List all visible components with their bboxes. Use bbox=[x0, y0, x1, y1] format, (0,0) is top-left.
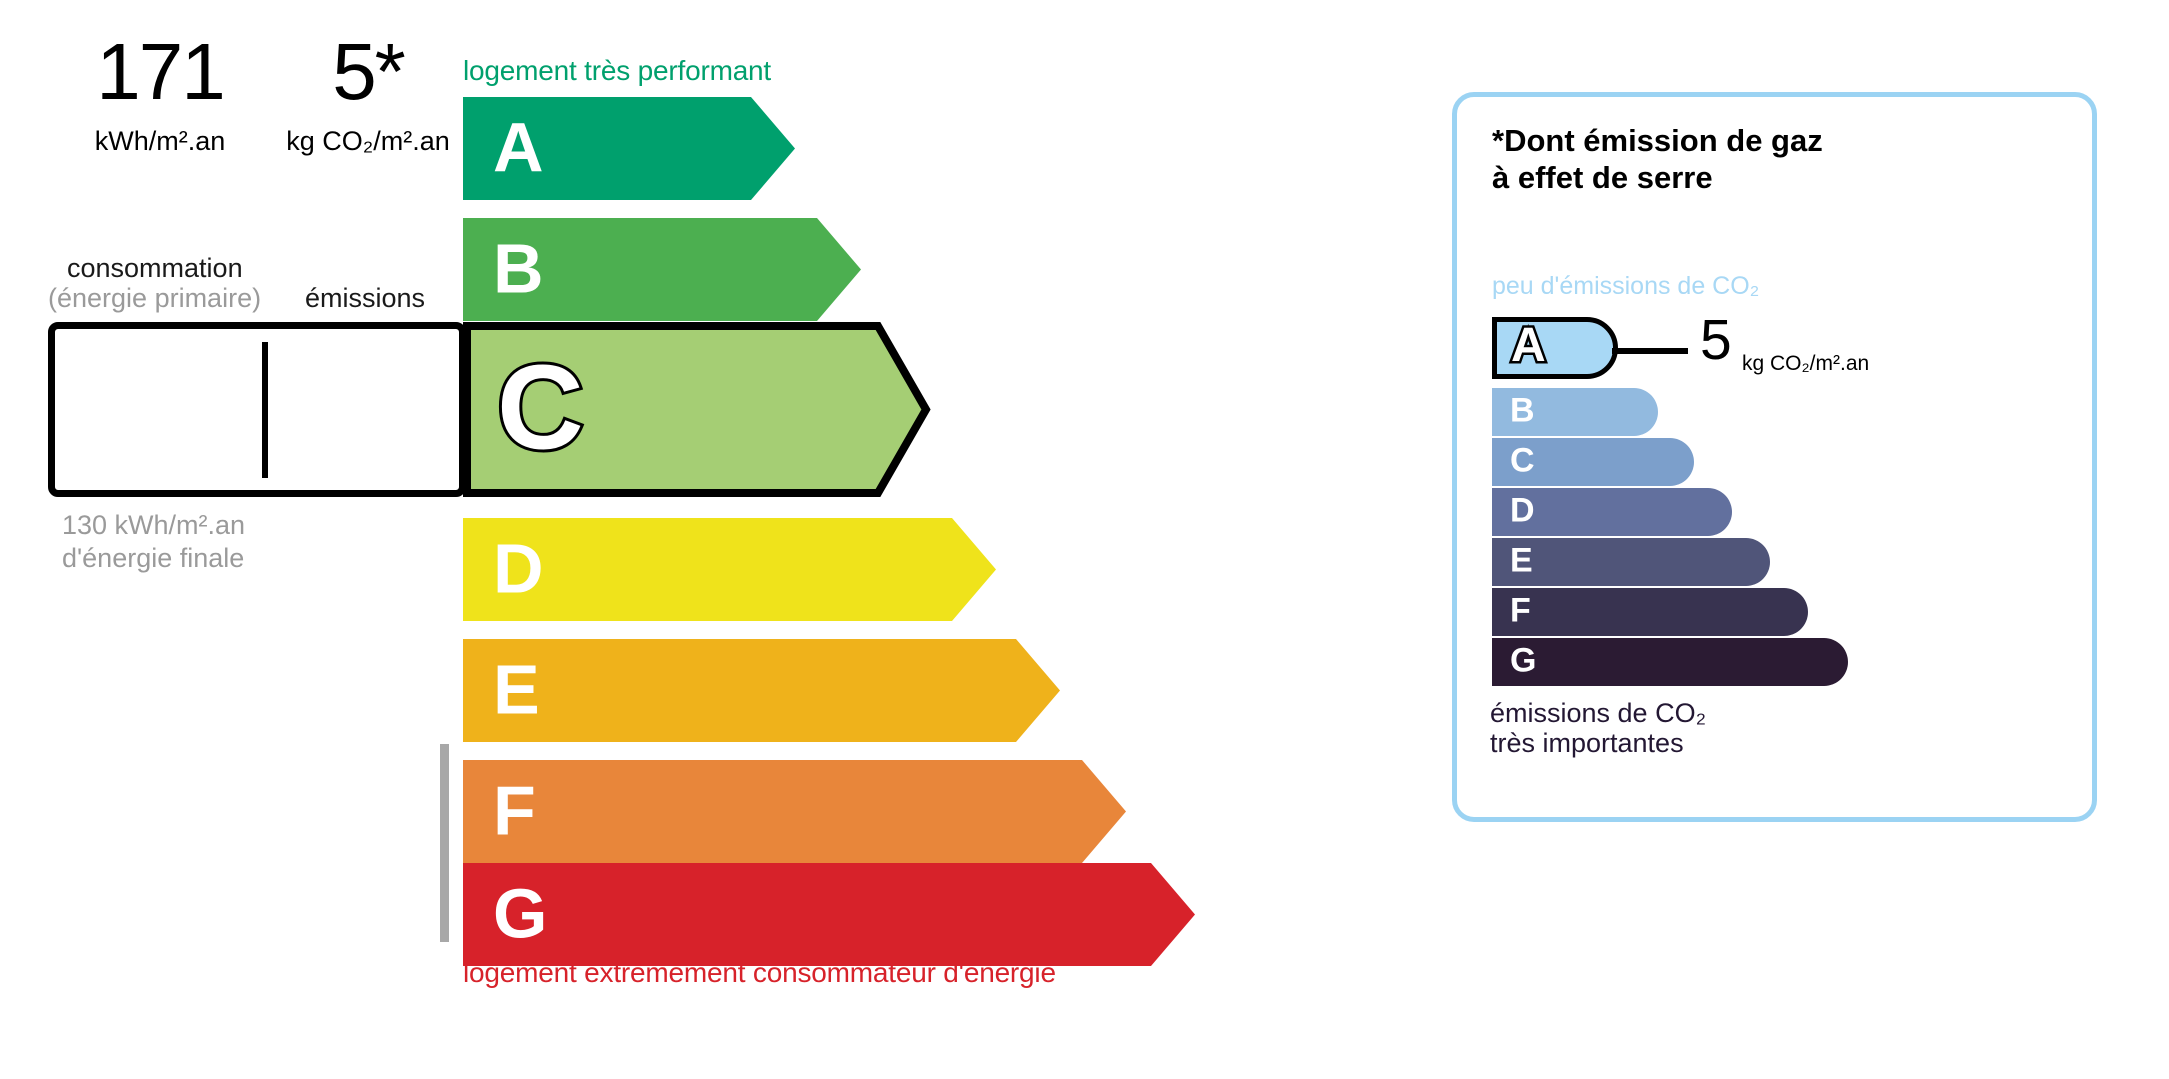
energy-class-row-a: A bbox=[463, 97, 795, 200]
co2-class-letter-c: C bbox=[1510, 444, 1535, 478]
consumption-number: 171 bbox=[55, 32, 265, 112]
label-emissions: émissions bbox=[305, 283, 425, 314]
arrow-shape-e bbox=[463, 639, 1070, 752]
co2-class-letter-g: G bbox=[1510, 644, 1536, 678]
emission-unit: kg CO₂/m².an bbox=[268, 126, 468, 157]
energy-class-letter-f: F bbox=[493, 775, 536, 845]
energy-class-row-b: B bbox=[463, 218, 861, 321]
co2-class-letter-b: B bbox=[1510, 394, 1535, 428]
arrow-shape-d bbox=[463, 518, 1006, 631]
co2-class-bar-b: B bbox=[1492, 388, 1658, 436]
co2-bottom-caption-line2: très importantes bbox=[1490, 728, 1684, 759]
energy-class-row-e: E bbox=[463, 639, 1060, 742]
footnote-final-energy-value: 130 kWh/m².an bbox=[62, 510, 245, 541]
co2-value-number: 5 bbox=[1700, 312, 1732, 369]
scale-top-caption: logement très performant bbox=[463, 55, 771, 87]
value-box bbox=[48, 322, 466, 497]
energy-class-row-d: D bbox=[463, 518, 996, 621]
co2-value-unit: kg CO₂/m².an bbox=[1742, 352, 1869, 376]
co2-class-bar-c: C bbox=[1492, 438, 1694, 486]
scale-bottom-caption: logement extrêmement consommateur d'éner… bbox=[463, 957, 1056, 989]
co2-class-letter-a: A bbox=[1511, 322, 1546, 370]
value-box-divider bbox=[262, 342, 268, 478]
energy-class-letter-d: D bbox=[493, 533, 544, 603]
emission-number: 5* bbox=[268, 32, 468, 112]
energy-performance-scale: logement très performant ABCDEFG 171 kWh… bbox=[0, 0, 1400, 1079]
co2-panel-title: *Dont émission de gaz à effet de serre bbox=[1492, 123, 1823, 196]
energy-class-letter-b: B bbox=[493, 233, 544, 303]
footnote-final-energy-label: d'énergie finale bbox=[62, 543, 244, 574]
energy-class-row-g: G bbox=[463, 863, 1195, 966]
co2-top-caption: peu d'émissions de CO₂ bbox=[1492, 272, 1759, 301]
co2-bottom-caption-line1: émissions de CO₂ bbox=[1490, 698, 1706, 729]
co2-class-bar-g: G bbox=[1492, 638, 1848, 686]
energy-class-letter-e: E bbox=[493, 654, 540, 724]
co2-class-bar-f: F bbox=[1492, 588, 1808, 636]
passoire-energetique-bracket bbox=[440, 744, 449, 942]
co2-class-bar-a: A bbox=[1492, 317, 1618, 379]
label-consommation: consommation bbox=[67, 253, 243, 284]
arrow-shape-f bbox=[463, 760, 1136, 873]
co2-class-bar-d: D bbox=[1492, 488, 1732, 536]
co2-class-bar-e: E bbox=[1492, 538, 1770, 586]
energy-class-letter-a: A bbox=[493, 112, 544, 182]
co2-class-letter-e: E bbox=[1510, 544, 1533, 578]
consumption-unit: kWh/m².an bbox=[55, 126, 265, 157]
co2-class-letter-f: F bbox=[1510, 594, 1531, 628]
energy-class-letter-c: C bbox=[497, 347, 584, 467]
energy-class-row-f: F bbox=[463, 760, 1126, 863]
energy-class-row-c: C bbox=[463, 322, 926, 497]
co2-value-connector-line bbox=[1612, 348, 1688, 354]
energy-class-letter-g: G bbox=[493, 878, 547, 948]
emission-value-cell: 5* kg CO₂/m².an bbox=[268, 0, 468, 1079]
label-energie-primaire: (énergie primaire) bbox=[48, 283, 261, 314]
co2-class-letter-d: D bbox=[1510, 494, 1535, 528]
